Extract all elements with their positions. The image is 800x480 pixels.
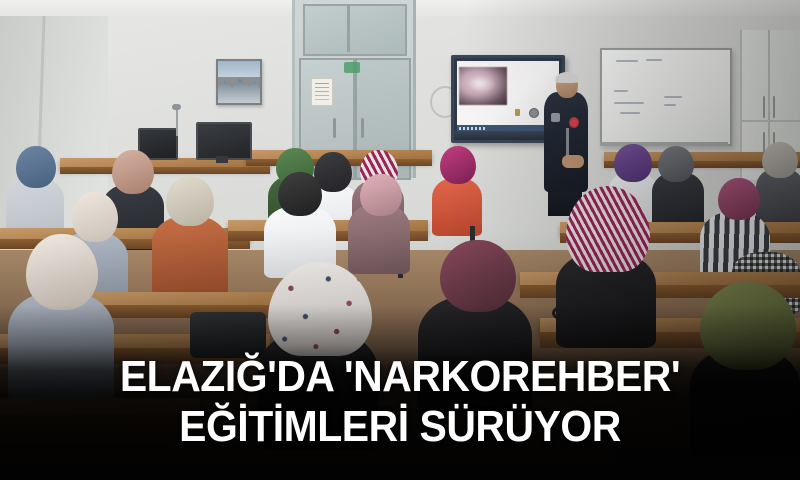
headscarf — [16, 146, 56, 188]
presenter-hands — [562, 155, 584, 168]
headscarf — [614, 144, 652, 182]
slide-icon-b — [529, 108, 539, 118]
whiteboard-writing — [664, 96, 682, 98]
whiteboard-writing — [614, 90, 628, 92]
cabinet-handle-upper-right — [773, 96, 775, 118]
whiteboard-writing — [620, 112, 640, 114]
door-handle-right — [361, 118, 364, 138]
door-transom-glass — [303, 4, 407, 56]
door-mullion — [347, 4, 350, 52]
headscarf — [166, 176, 214, 226]
microphone-stand — [176, 108, 178, 136]
headline-line-2: EĞİTİMLERİ SÜRÜYOR — [28, 402, 772, 452]
picture-mountains — [218, 75, 260, 103]
framed-landscape-picture — [216, 59, 262, 105]
green-exit-sign — [344, 62, 360, 73]
headscarf — [26, 234, 98, 310]
whiteboard-writing — [646, 59, 662, 61]
headscarf — [440, 146, 476, 184]
slide-photo — [459, 67, 507, 105]
headscarf — [112, 150, 154, 194]
headscarf — [762, 142, 798, 178]
person-body — [152, 216, 228, 296]
hair — [278, 172, 322, 216]
headscarf — [440, 240, 516, 312]
headscarf — [658, 146, 694, 182]
presenter-hair — [555, 72, 579, 83]
cabinet-shelf-line — [740, 120, 800, 122]
uniform-badge — [569, 117, 579, 128]
slide-icon-a — [515, 109, 520, 116]
door-handle-left — [333, 118, 336, 138]
door-paper-notice — [311, 78, 333, 106]
uniform-shoulder-patch — [551, 113, 560, 122]
screenshot-root: ELAZIĞ'DA 'NARKOREHBER' EĞİTİMLERİ SÜRÜY… — [0, 0, 800, 480]
microphone-head — [172, 104, 181, 110]
whiteboard-writing — [614, 102, 644, 104]
desktop-monitor — [196, 122, 252, 160]
whiteboard-writing — [664, 104, 676, 106]
monitor-stand — [216, 156, 228, 163]
headline-line-1: ELAZIĞ'DA 'NARKOREHBER' — [28, 352, 772, 402]
desk-back-left-apron — [60, 167, 270, 174]
whiteboard-marker-tray — [600, 142, 728, 146]
headscarf — [718, 178, 760, 220]
cabinet-handle-upper-left — [763, 96, 765, 118]
whiteboard — [600, 48, 732, 146]
whiteboard-writing — [616, 60, 638, 62]
picture-sky — [218, 61, 260, 77]
headline: ELAZIĞ'DA 'NARKOREHBER' EĞİTİMLERİ SÜRÜY… — [0, 352, 800, 452]
headscarf — [72, 192, 118, 242]
headscarf — [360, 174, 402, 216]
